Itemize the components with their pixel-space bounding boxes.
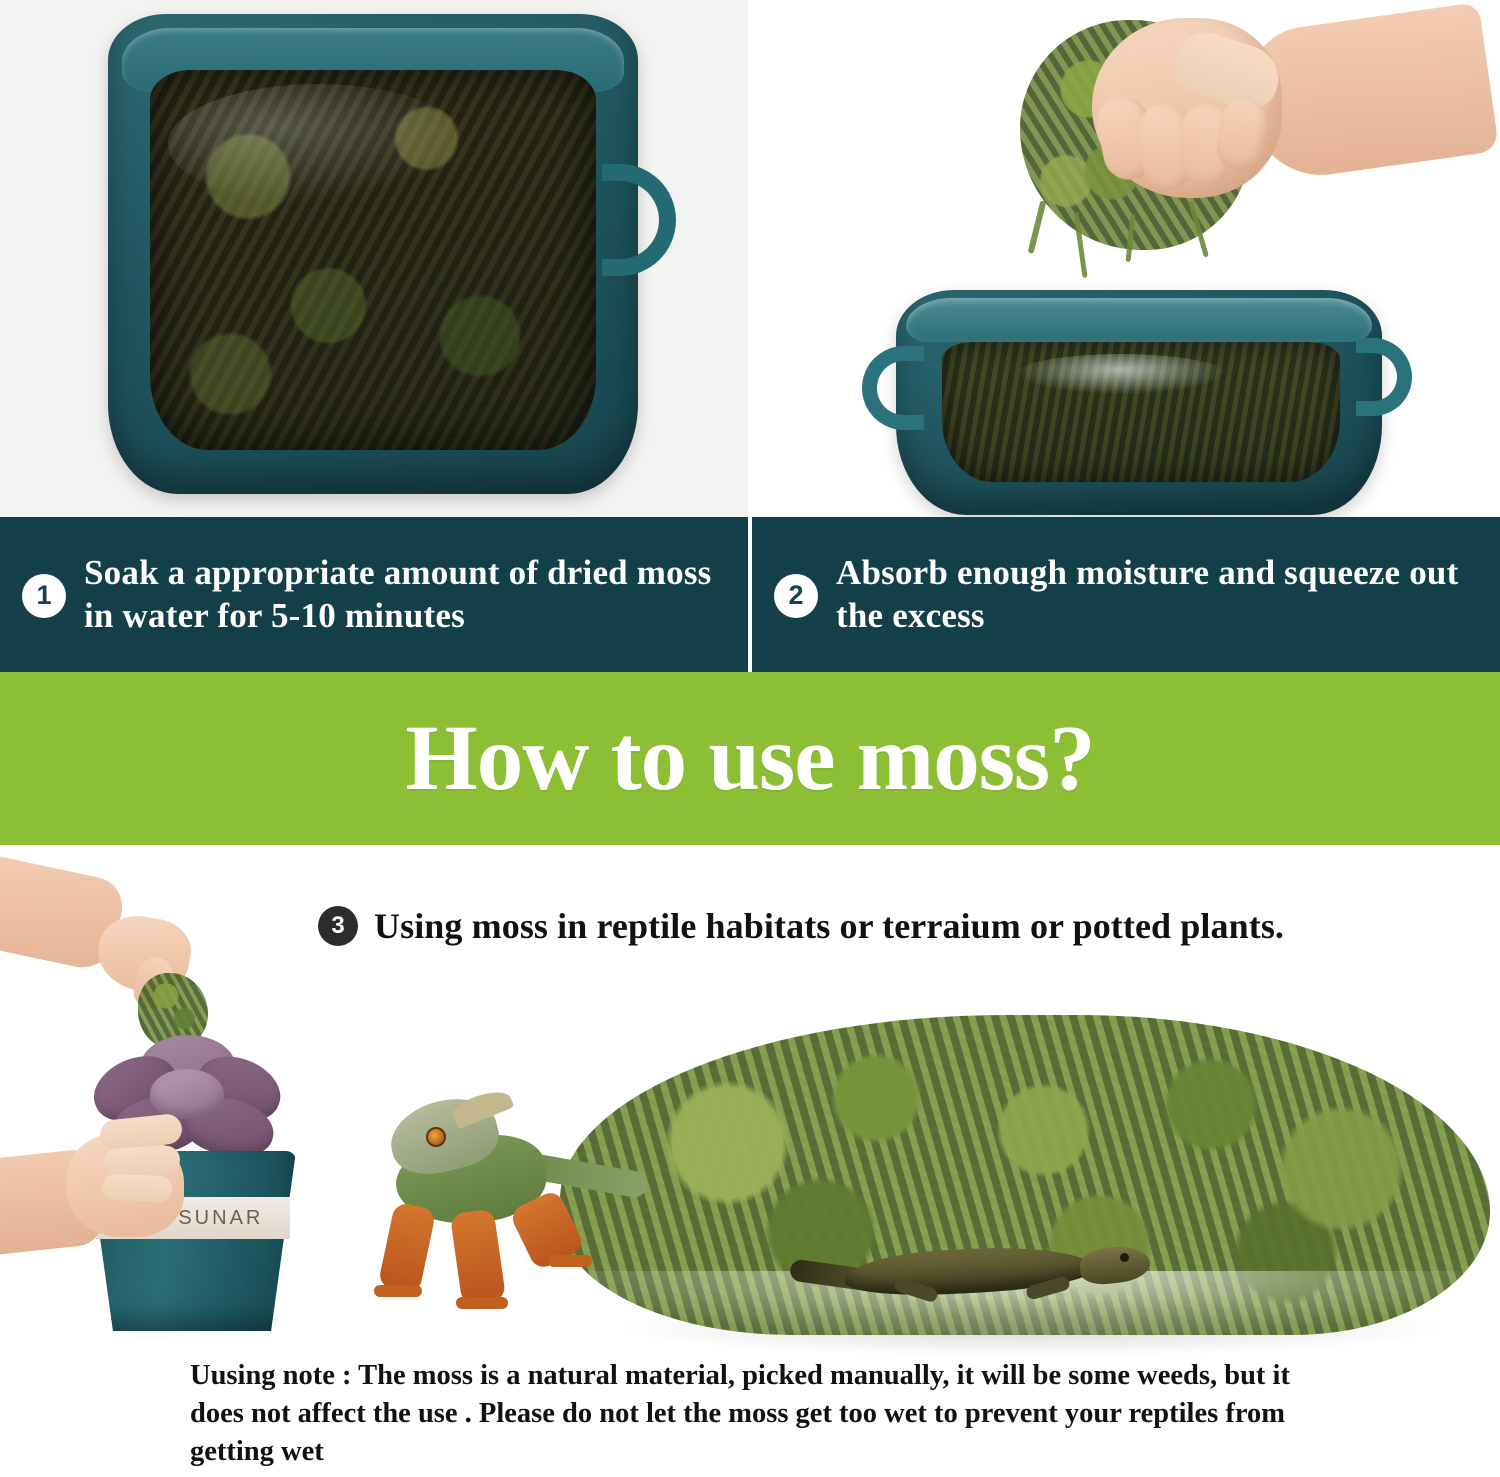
caption-step-1: 1 Soak a appropriate amount of dried mos… — [0, 517, 748, 672]
captions-row: 1 Soak a appropriate amount of dried mos… — [0, 517, 1500, 672]
infographic-page: 1 Soak a appropriate amount of dried mos… — [0, 0, 1500, 1477]
eye — [1120, 1253, 1129, 1262]
newt-photo — [790, 1213, 1170, 1343]
photo-divider — [748, 0, 752, 517]
foot — [548, 1255, 592, 1267]
caption-text-3: Using moss in reptile habitats or terrai… — [374, 905, 1284, 947]
moss-strand — [1028, 200, 1047, 254]
basin-handle — [602, 164, 676, 276]
bottom-section: 3 Using moss in reptile habitats or terr… — [0, 845, 1500, 1477]
step-2-photo — [750, 0, 1500, 517]
finger — [102, 1174, 173, 1202]
finger — [103, 1145, 180, 1177]
eye — [426, 1127, 446, 1147]
water-highlight — [1016, 354, 1226, 394]
page-title: How to use moss? — [405, 705, 1094, 812]
squeeze-basin — [896, 290, 1382, 515]
caption-step-3: 3 Using moss in reptile habitats or terr… — [318, 905, 1284, 947]
step-badge-1: 1 — [22, 574, 66, 618]
basin-rim — [906, 298, 1372, 342]
title-band: How to use moss? — [0, 672, 1500, 845]
pot-label-right: SUNAR — [178, 1207, 263, 1230]
water-sheen — [168, 84, 468, 204]
holding-hand — [0, 1097, 180, 1247]
caption-text-1: Soak a appropriate amount of dried moss … — [84, 552, 722, 637]
step-photos-row — [0, 0, 1500, 517]
step-badge-2: 2 — [774, 574, 818, 618]
caption-step-2: 2 Absorb enough moisture and squeeze out… — [752, 517, 1500, 672]
basin-handle-left — [862, 346, 924, 430]
usage-note: Uusing note : The moss is a natural mate… — [190, 1357, 1330, 1471]
front-leg — [450, 1208, 506, 1305]
finger — [99, 1113, 184, 1151]
basin-handle-right — [1356, 338, 1412, 416]
foot — [374, 1285, 422, 1297]
step-1-photo — [0, 0, 750, 517]
front-leg — [378, 1202, 437, 1295]
dropping-hand — [0, 865, 200, 1005]
potted-plant-photo: D ☘ SUNAR — [0, 865, 330, 1335]
caption-text-2: Absorb enough moisture and squeeze out t… — [836, 552, 1474, 637]
foot — [456, 1297, 508, 1309]
soaking-basin — [108, 14, 638, 494]
head — [1078, 1243, 1151, 1286]
iguana-photo — [352, 1093, 652, 1333]
squeezing-hand — [1000, 0, 1460, 290]
